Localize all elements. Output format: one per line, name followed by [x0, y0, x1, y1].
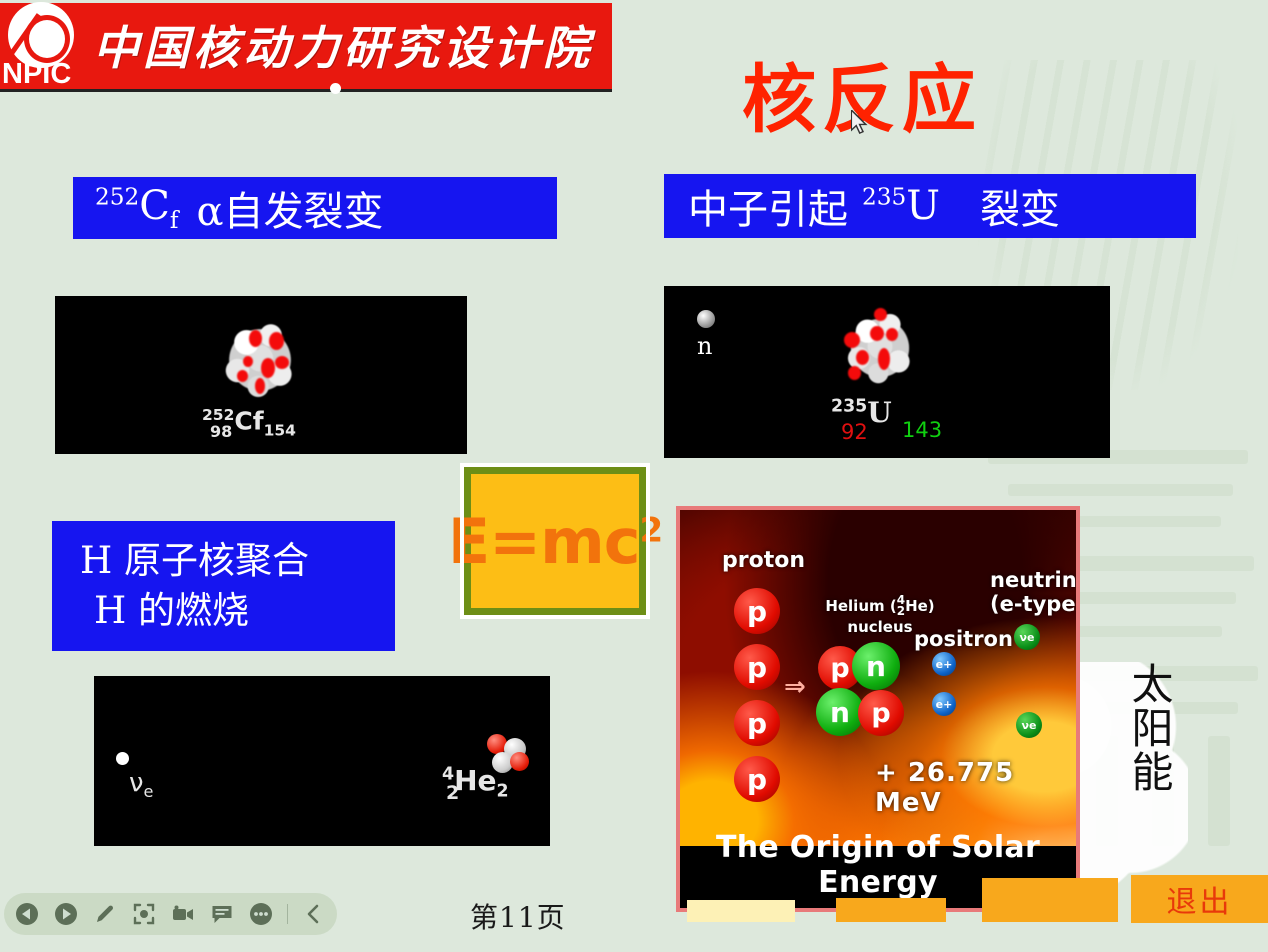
side-label-solar-energy: 太阳能: [1126, 662, 1173, 794]
cf-subscript: f: [170, 207, 179, 234]
label-positron: positron: [914, 627, 1013, 651]
comment-icon[interactable]: [209, 901, 235, 927]
more-icon[interactable]: [248, 901, 274, 927]
helium-fraction: 42: [897, 595, 905, 618]
positron-particle: e+: [932, 652, 956, 676]
bottom-button-right[interactable]: [982, 878, 1118, 922]
mouse-cursor-icon: [851, 110, 869, 136]
neutron-label: n: [697, 332, 712, 360]
u-neutron-number: 143: [902, 418, 942, 442]
helium-neutron-particle: n: [852, 642, 900, 690]
emc2-formula: E=mc2: [448, 505, 662, 578]
u-formula: 235U: [862, 183, 940, 229]
cf-neutron-number: 154: [264, 421, 296, 439]
presentation-toolbar[interactable]: [4, 893, 337, 935]
npic-logo: NPIC: [2, 0, 78, 98]
bottom-button-pale[interactable]: [687, 900, 795, 922]
cf-superscript: 252: [95, 183, 139, 210]
exit-button-label: 退出: [1167, 877, 1233, 921]
u-description: 裂变: [980, 177, 1060, 235]
caption-box-u: 中子引起 235U 裂变: [664, 174, 1196, 238]
media-panel-cf: 252Cf154 98: [55, 296, 467, 454]
focus-icon[interactable]: [131, 901, 157, 927]
previous-icon[interactable]: [14, 901, 40, 927]
u-atomic-number: 92: [841, 420, 868, 444]
banner-dot-icon: [330, 83, 341, 94]
media-panel-helium: νe 4He2 2: [94, 676, 550, 846]
label-neutrino: neutrino (e-type): [990, 568, 1080, 616]
u-superscript: 235: [862, 184, 906, 211]
neutrino-particle: νe: [1016, 712, 1042, 738]
neutrino-label: νe: [129, 768, 153, 801]
emc2-card: E=mc2: [464, 467, 646, 615]
cf-element: C: [139, 183, 170, 229]
neutrino-dot-icon: [116, 752, 129, 765]
cf-nucleus-image: [215, 316, 305, 404]
header-banner: 中国核动力研究设计院: [0, 3, 612, 92]
organization-name: 中国核动力研究设计院: [78, 1, 608, 89]
he-neutron-number: 2: [497, 782, 509, 802]
neutrino-particle: νe: [1014, 624, 1040, 650]
u-mass-number: 235: [831, 397, 867, 417]
pen-icon[interactable]: [92, 901, 118, 927]
media-panel-u: n 235U 92 143: [664, 286, 1110, 458]
logo-text: NPIC: [2, 58, 82, 91]
he-atomic-number: 2: [446, 782, 459, 804]
proton-particle: p: [734, 588, 780, 634]
u-nucleus-image: [838, 306, 922, 390]
neutrino-subscript: e: [144, 782, 154, 801]
caption-box-cf: 252Cf α自发裂变: [73, 177, 557, 239]
cf-description: α自发裂变: [196, 179, 383, 237]
page-indicator: 第11页: [470, 896, 566, 936]
exit-button[interactable]: 退出: [1131, 875, 1268, 923]
caption-box-h: H 原子核聚合 H 的燃烧: [52, 521, 395, 651]
cf-formula: 252Cf: [95, 183, 178, 234]
cf-symbol: Cf: [234, 406, 263, 435]
h-line-2: H 的燃烧: [80, 586, 249, 636]
energy-release-label: + 26.775 MeV: [875, 758, 1076, 818]
positron-particle: e+: [932, 692, 956, 716]
neutron-sphere-icon: [697, 310, 715, 328]
u-symbol: U: [867, 396, 891, 429]
proton-particle: p: [734, 700, 780, 746]
h-line-1: H 原子核聚合: [80, 536, 309, 586]
u-element: U: [906, 183, 940, 229]
helium-note-pre: Helium (: [825, 597, 896, 615]
neutrino-line-2: (e-type): [990, 592, 1080, 616]
proton-particle: p: [734, 756, 780, 802]
bottom-button-middle[interactable]: [836, 898, 946, 922]
cf-atomic-number: 98: [210, 422, 232, 441]
solar-energy-image: proton Helium (42He) nucleus positron ne…: [676, 506, 1080, 912]
slide-canvas: 中国核动力研究设计院 NPIC 核反应 252Cf α自发裂变 中子引起 235…: [0, 0, 1268, 952]
emc2-base: E=mc: [448, 505, 640, 578]
video-camera-icon[interactable]: [170, 901, 196, 927]
label-proton: proton: [722, 548, 805, 573]
toolbar-divider: [287, 904, 288, 924]
next-icon[interactable]: [53, 901, 79, 927]
helium-note-post: He): [905, 597, 935, 615]
helium-proton-particle: p: [858, 690, 904, 736]
helium-frac-bottom: 2: [897, 606, 905, 617]
helium-neutron-particle: n: [816, 688, 864, 736]
collapse-icon[interactable]: [301, 901, 327, 927]
reaction-arrow-icon: ⇒: [784, 672, 806, 702]
u-prefix: 中子引起: [688, 177, 848, 235]
neutrino-symbol: ν: [129, 768, 144, 798]
proton-particle: p: [734, 644, 780, 690]
he-symbol: He: [454, 764, 496, 797]
helium-note-line2: nucleus: [847, 618, 912, 636]
emc2-exponent: 2: [639, 510, 662, 550]
neutrino-line-1: neutrino: [990, 568, 1080, 592]
